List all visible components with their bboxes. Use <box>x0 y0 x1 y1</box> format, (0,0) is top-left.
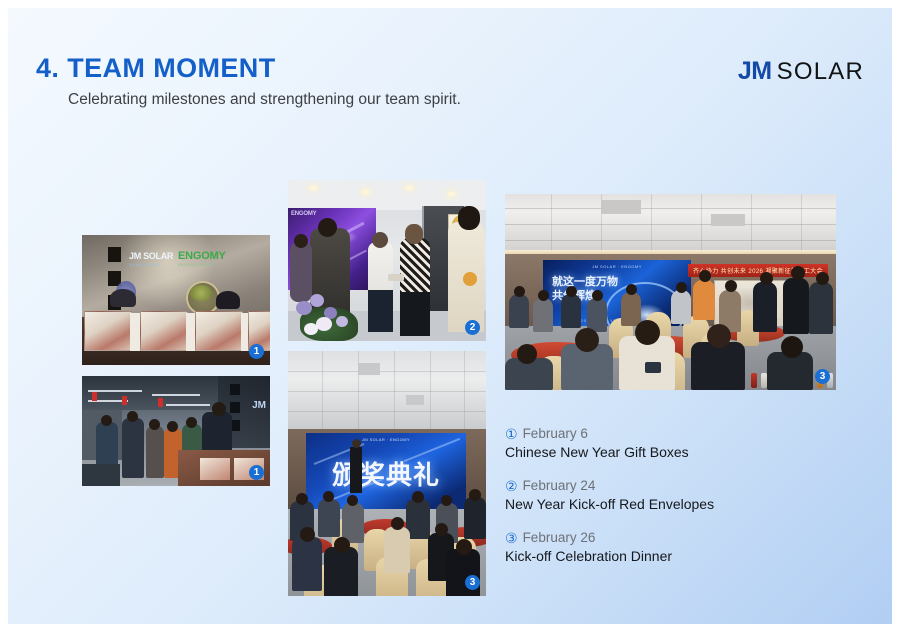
caption-item-3: ③ February 26 Kick-off Celebration Dinne… <box>505 530 835 564</box>
photo-content: ENGOMY <box>288 180 486 341</box>
logo-mark-text: JM <box>738 57 772 86</box>
logo-word-text: SOLAR <box>777 58 864 86</box>
wall-logo-engomy: ENGOMY <box>178 250 226 262</box>
photo-content: JM SOLAR · ENGOMY 颁奖典礼 <box>288 351 486 596</box>
wall-logo-jmsolar: JM SOLAR <box>129 251 173 261</box>
screen-logo-strip: JM SOLAR · ENGOMY <box>362 437 410 442</box>
screen-logo-strip: JM SOLAR · ENGOMY <box>592 264 642 269</box>
caption-date: February 26 <box>523 530 596 545</box>
photo-badge: 1 <box>249 344 264 359</box>
photo-badge: 3 <box>465 575 480 590</box>
caption-item-2: ② February 24 New Year Kick-off Red Enve… <box>505 478 835 512</box>
photo-banquet-awards-ceremony[interactable]: JM SOLAR · ENGOMY 颁奖典礼 <box>288 351 486 596</box>
photo-lobby-red-envelope[interactable]: ENGOMY <box>288 180 486 341</box>
screen-headline: 颁奖典礼 <box>332 455 440 492</box>
caption-title: Kick-off Celebration Dinner <box>505 548 835 564</box>
caption-date: February 24 <box>523 478 596 493</box>
caption-date: February 6 <box>523 426 588 441</box>
photo-content: JM <box>82 376 270 486</box>
brand-logo: JM SOLAR <box>738 57 864 86</box>
caption-title: Chinese New Year Gift Boxes <box>505 444 835 460</box>
photo-content: JM SOLAR JIAMEI SOLAR ENGOMY ENGOMY GROU… <box>82 235 270 365</box>
screen-logo: ENGOMY <box>291 211 316 217</box>
photo-kickoff-celebration-dinner[interactable]: JM SOLAR · ENGOMY 就这一度万物共创辉煌 2026 NEW YE… <box>505 194 836 390</box>
caption-item-1: ① February 6 Chinese New Year Gift Boxes <box>505 426 835 460</box>
page-title: 4. TEAM MOMENT <box>36 53 276 84</box>
page-subtitle: Celebrating milestones and strengthening… <box>68 91 461 109</box>
photo-badge: 1 <box>249 465 264 480</box>
caption-title: New Year Kick-off Red Envelopes <box>505 496 835 512</box>
caption-list: ① February 6 Chinese New Year Gift Boxes… <box>505 426 835 582</box>
slide-canvas: 4. TEAM MOMENT Celebrating milestones an… <box>8 8 892 624</box>
photo-gift-boxes-showroom[interactable]: JM SOLAR JIAMEI SOLAR ENGOMY ENGOMY GROU… <box>82 235 270 365</box>
caption-marker-icon: ③ <box>505 531 518 545</box>
wall-logo-jm: JM <box>252 400 266 411</box>
caption-marker-icon: ② <box>505 479 518 493</box>
photo-badge: 2 <box>465 320 480 335</box>
photo-content: JM SOLAR · ENGOMY 就这一度万物共创辉煌 2026 NEW YE… <box>505 194 836 390</box>
photo-badge: 3 <box>815 369 830 384</box>
photo-office-gift-distribution[interactable]: JM 1 <box>82 376 270 486</box>
caption-marker-icon: ① <box>505 427 518 441</box>
